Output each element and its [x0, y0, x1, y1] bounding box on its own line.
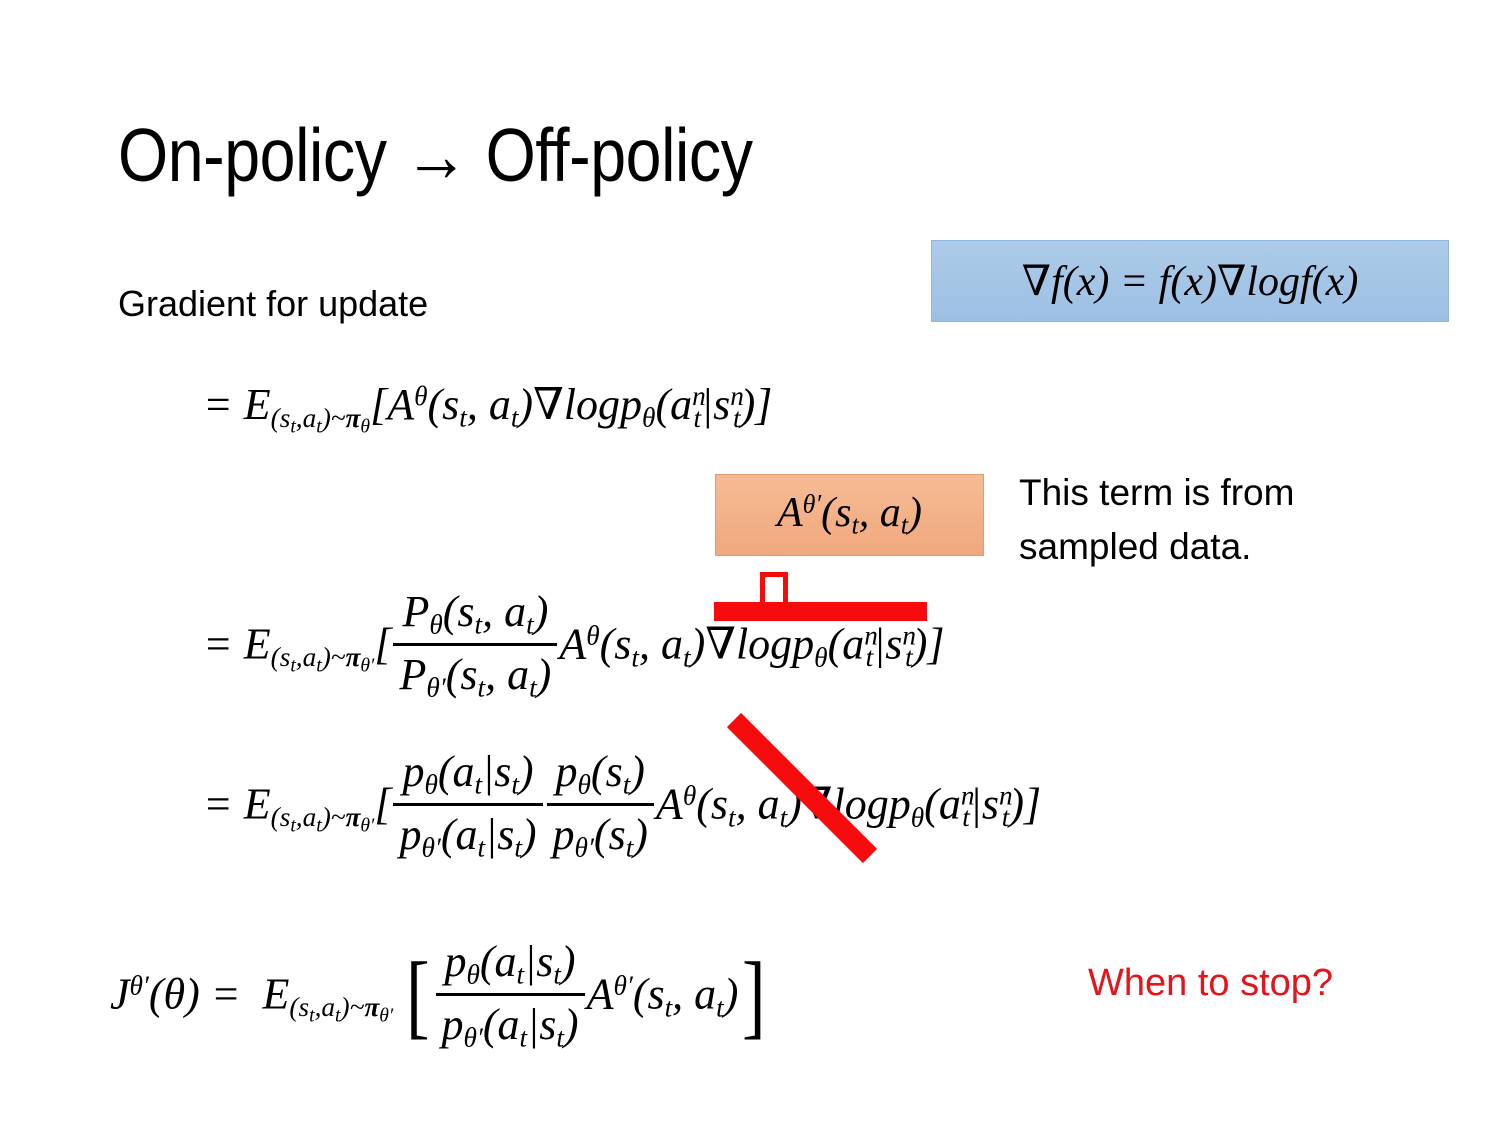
sampled-data-note: This term is from sampled data.: [1019, 466, 1294, 573]
gradient-identity-formula: ∇f(x) = f(x)∇logf(x): [1022, 256, 1359, 306]
gradient-for-update-label: Gradient for update: [118, 280, 428, 328]
blue-highlight-box: ∇f(x) = f(x)∇logf(x): [931, 240, 1449, 322]
page-title: On-policy → Off-policy: [118, 116, 753, 195]
equation-line-3: = E(st,at)~πθ′[pθ(at|st)pθ′(at|st)pθ(st)…: [203, 750, 1041, 867]
red-diagonal-slash: [710, 708, 890, 868]
red-strikethrough-bar: [714, 602, 927, 621]
equation-line-1: = E(st,at)~πθ[Aθ(st, at)∇logpθ(ant|snt)]: [203, 379, 772, 438]
when-to-stop-note: When to stop?: [1088, 958, 1333, 1008]
orange-highlight-box: Aθ′(st, at): [715, 474, 984, 556]
slide-canvas: On-policy → Off-policy Gradient for upda…: [0, 0, 1500, 1125]
equation-line-4: Jθ′(θ) = E(st,at)~πθ′ [pθ(at|st)pθ′(at|s…: [110, 940, 770, 1057]
red-strikethrough-tick: [760, 572, 788, 606]
advantage-theta-prime-formula: Aθ′(st, at): [777, 489, 922, 540]
